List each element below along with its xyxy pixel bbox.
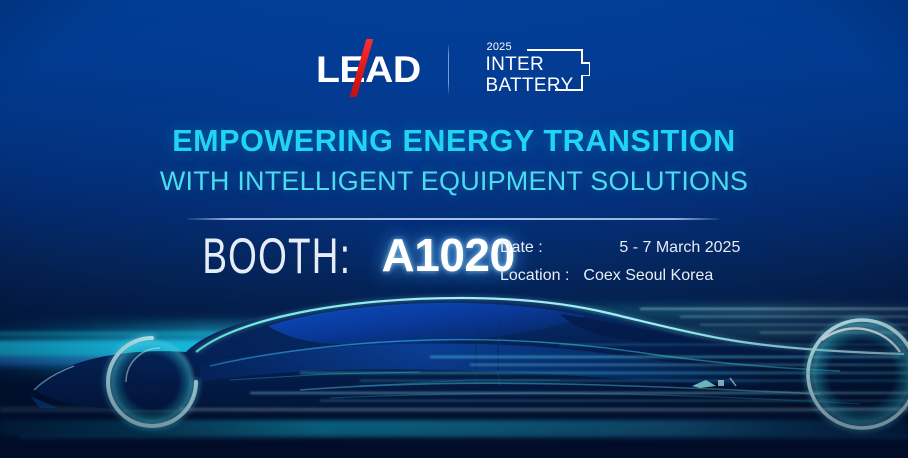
headline-primary: EMPOWERING ENERGY TRANSITION	[0, 126, 908, 157]
car-illustration	[0, 268, 908, 458]
date-label: Date :	[500, 238, 569, 258]
battery-outline-bottom	[555, 89, 583, 91]
logo-row: LEAD 2025 INTER BATTERY	[0, 38, 908, 100]
logo-divider	[448, 44, 449, 94]
horizontal-divider	[187, 218, 719, 220]
booth-block: BOOTH: A1020	[186, 232, 515, 278]
battery-outline-top	[527, 49, 583, 51]
interbattery-line1: INTER	[486, 55, 545, 74]
interbattery-logo: 2025 INTER BATTERY	[485, 40, 593, 98]
car-artwork	[0, 268, 908, 458]
battery-outline-right-upper	[581, 49, 583, 63]
front-wheel	[108, 338, 196, 426]
location-label: Location :	[500, 266, 569, 286]
headline-secondary: WITH INTELLIGENT EQUIPMENT SOLUTIONS	[0, 168, 908, 195]
lead-logo: LEAD	[316, 48, 412, 90]
event-promo-banner: LEAD 2025 INTER BATTERY EMPOWERING ENERG…	[0, 0, 908, 458]
date-value: 5 - 7 March 2025	[583, 238, 740, 258]
interbattery-line2: BATTERY	[486, 76, 574, 95]
location-value: Coex Seoul Korea	[583, 266, 740, 286]
booth-number: A1020	[382, 232, 515, 278]
interbattery-year: 2025	[487, 42, 512, 53]
booth-label: BOOTH:	[202, 230, 351, 280]
event-info-block: Date : 5 - 7 March 2025 Location : Coex …	[500, 238, 740, 286]
rear-wheel	[808, 320, 908, 428]
